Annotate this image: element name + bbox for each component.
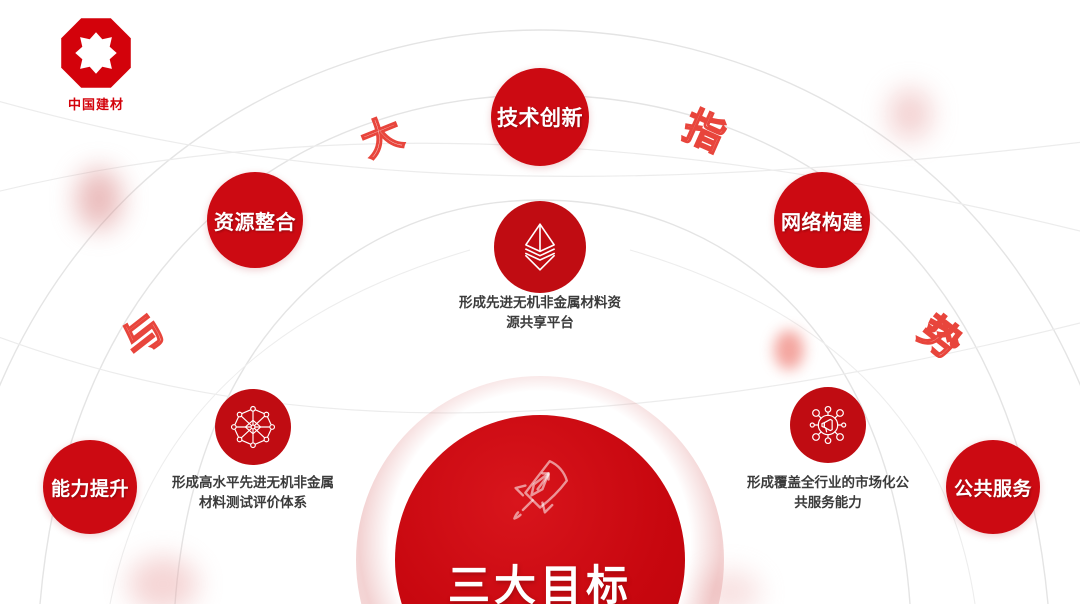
caption-line: 共服务能力 bbox=[713, 493, 943, 513]
deco-char-shi: 势 bbox=[912, 310, 968, 366]
label-circle-text: 能力提升 bbox=[51, 474, 129, 501]
label-circle-text: 技术创新 bbox=[497, 102, 583, 132]
layers-diamond-icon bbox=[517, 222, 563, 272]
label-circle-technology-innovation[interactable]: 技术创新 bbox=[491, 68, 589, 166]
caption-line: 形成先进无机非金属材料资 bbox=[425, 293, 655, 313]
goal-caption-resource-platform: 形成先进无机非金属材料资 源共享平台 bbox=[425, 293, 655, 332]
label-circle-capability-improvement[interactable]: 能力提升 bbox=[43, 440, 137, 534]
label-circle-text: 网络构建 bbox=[781, 206, 863, 235]
goal-icon-circle-testing-system[interactable] bbox=[215, 389, 291, 465]
caption-line: 形成覆盖全行业的市场化公 bbox=[713, 473, 943, 493]
goal-icon-circle-resource-platform[interactable] bbox=[494, 201, 586, 293]
label-circle-public-service[interactable]: 公共服务 bbox=[946, 440, 1040, 534]
goal-icon-circle-public-service[interactable] bbox=[790, 387, 866, 463]
infographic-canvas: 大 指 与 势 三大目标 bbox=[0, 0, 1080, 604]
octagon-star-logo-icon bbox=[59, 16, 133, 90]
caption-line: 形成高水平先进无机非金属 bbox=[138, 473, 368, 493]
label-circle-text: 资源整合 bbox=[214, 206, 296, 235]
goal-caption-public-service: 形成覆盖全行业的市场化公 共服务能力 bbox=[713, 473, 943, 512]
brand-logo[interactable]: 中国建材 bbox=[46, 16, 146, 113]
caption-line: 源共享平台 bbox=[425, 313, 655, 333]
megaphone-network-icon bbox=[804, 401, 852, 449]
brand-logo-text: 中国建材 bbox=[46, 94, 146, 113]
label-circle-network-building[interactable]: 网络构建 bbox=[774, 172, 870, 268]
deco-char-da: 大 bbox=[356, 112, 408, 164]
goal-caption-testing-system: 形成高水平先进无机非金属 材料测试评价体系 bbox=[138, 473, 368, 512]
label-circle-text: 公共服务 bbox=[954, 474, 1032, 501]
rocket-icon bbox=[501, 449, 579, 532]
deco-char-yu: 与 bbox=[116, 308, 172, 364]
hero-title: 三大目标 bbox=[448, 552, 632, 604]
caption-line: 材料测试评价体系 bbox=[138, 493, 368, 513]
network-nodes-icon bbox=[230, 404, 276, 450]
deco-char-zhi: 指 bbox=[678, 106, 731, 159]
label-circle-resource-integration[interactable]: 资源整合 bbox=[207, 172, 303, 268]
